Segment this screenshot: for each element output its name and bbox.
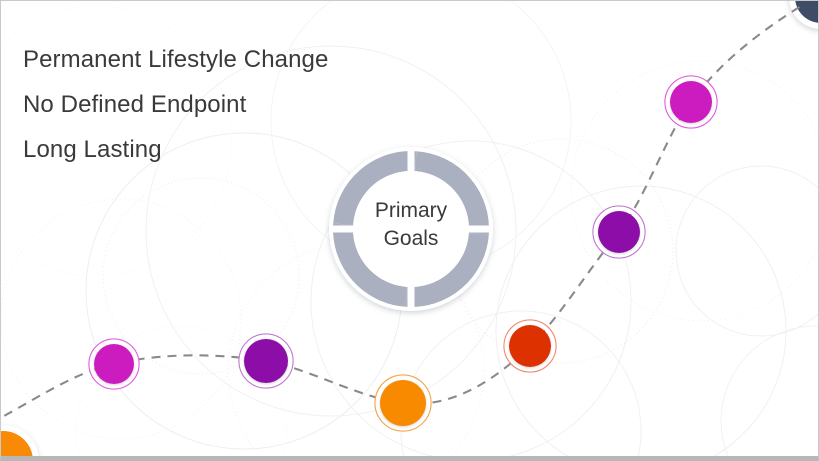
bullet-item-1: Permanent Lifestyle Change (23, 37, 453, 82)
slide-canvas: Permanent Lifestyle Change No Defined En… (0, 0, 819, 461)
node-magenta-top[interactable] (665, 76, 717, 128)
corner-accent-orange (1, 425, 39, 461)
corner-accent-navy (789, 1, 819, 29)
bullet-item-3: Long Lasting (23, 127, 453, 172)
bullet-list: Permanent Lifestyle Change No Defined En… (23, 37, 453, 172)
bullet-item-2: No Defined Endpoint (23, 82, 453, 127)
node-purple-left[interactable] (239, 334, 293, 388)
node-magenta-left[interactable] (89, 339, 139, 389)
node-orange-bottom[interactable] (375, 375, 431, 431)
node-purple-right[interactable] (593, 206, 645, 258)
node-red-mid[interactable] (504, 320, 556, 372)
